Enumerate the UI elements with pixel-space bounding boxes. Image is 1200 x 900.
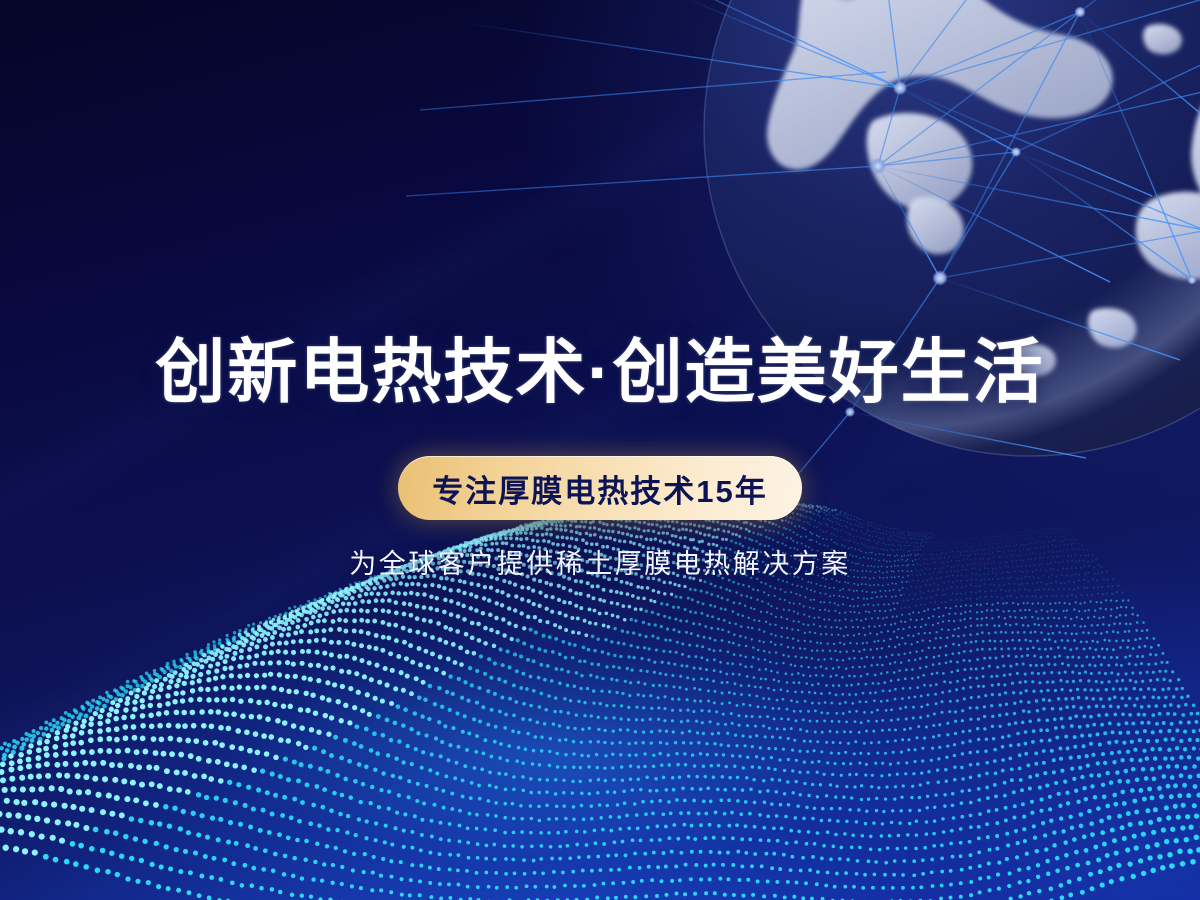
banner-content: 创新电热技术·创造美好生活 专注厚膜电热技术15年 为全球客户提供稀土厚膜电热解… [0, 0, 1200, 900]
page-title: 创新电热技术·创造美好生活 [0, 330, 1200, 414]
page-subtitle: 为全球客户提供稀土厚膜电热解决方案 [0, 546, 1200, 582]
hero-banner: 创新电热技术·创造美好生活 专注厚膜电热技术15年 为全球客户提供稀土厚膜电热解… [0, 0, 1200, 900]
badge-row: 专注厚膜电热技术15年 [0, 456, 1200, 520]
experience-badge: 专注厚膜电热技术15年 [398, 456, 801, 520]
